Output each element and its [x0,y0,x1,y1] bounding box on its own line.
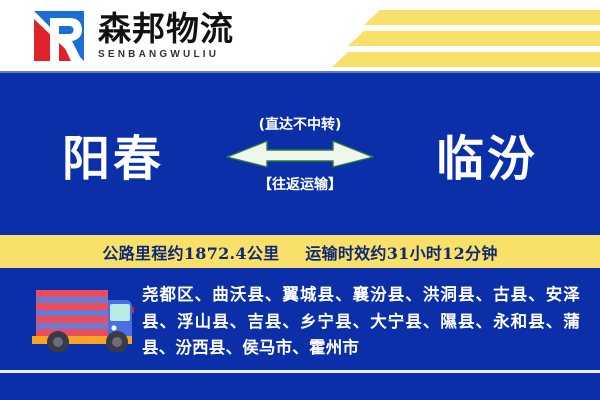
banner-text-row: 公路里程约1872.4公里 运输时效约31小时12分钟 [102,240,497,264]
company-name-en: SENBANGWULIU [98,50,234,60]
logistics-route-poster: 森邦物流 SENBANGWULIU 阳春 (直达不中转) 【往返运输】 [0,0,600,400]
duration-label: 运输时效约31小时12分钟 [305,244,497,263]
destination-city: 临汾 [436,119,538,189]
delivery-truck-icon [22,286,134,352]
round-trip-note: 【往返运输】 [258,174,342,194]
logo-r-mark-icon [30,9,88,63]
origin-city: 阳春 [62,119,164,189]
route-connector: (直达不中转) 【往返运输】 [200,114,400,194]
distance-duration-banner: 公路里程约1872.4公里 运输时效约31小时12分钟 [0,235,600,268]
destination-area: 尧都区、曲沃县、翼城县、襄汾县、洪洞县、古县、安泽县、浮山县、吉县、乡宁县、大宁… [0,268,600,370]
company-logo: 森邦物流 SENBANGWULIU [30,9,234,63]
company-name-cn: 森邦物流 [98,12,234,45]
speed-stripes-icon [320,0,600,73]
route-hero: 阳春 (直达不中转) 【往返运输】 临汾 [0,73,600,235]
distance-label: 公路里程约1872.4公里 [102,244,279,263]
double-arrow-icon [225,139,375,169]
destination-list: 尧都区、曲沃县、翼城县、襄汾县、洪洞县、古县、安泽县、浮山县、吉县、乡宁县、大宁… [142,282,580,362]
poster-footer [0,373,600,400]
logo-wordmark: 森邦物流 SENBANGWULIU [98,12,234,60]
direct-route-note: (直达不中转) [259,114,342,134]
poster-header: 森邦物流 SENBANGWULIU [0,0,600,73]
